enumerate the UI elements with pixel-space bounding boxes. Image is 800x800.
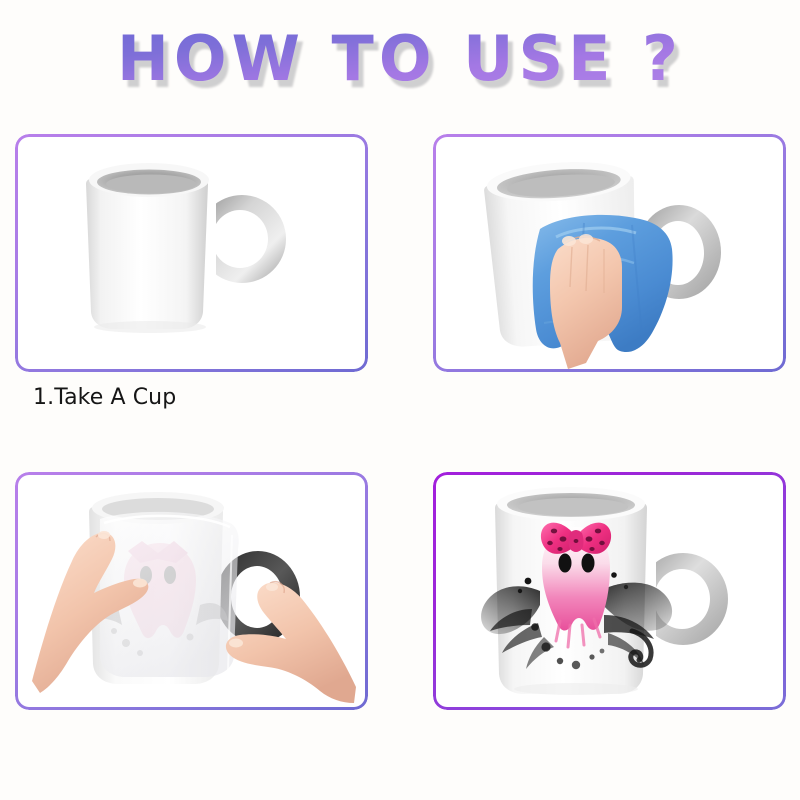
step-3-image-frame <box>15 472 368 710</box>
step-3-stage <box>18 475 365 707</box>
step-1-caption: 1.Take A Cup <box>33 382 413 413</box>
mug-rim <box>89 163 209 197</box>
step-card-1: 1.Take A Cup <box>15 134 368 372</box>
step-card-2: 2.Wipe The Surface If The Cup Clean <box>433 134 786 372</box>
plain-white-mug-illustration <box>18 137 365 369</box>
peel-film-illustration <box>18 475 365 707</box>
mug-handle <box>198 195 286 283</box>
hand <box>550 234 622 369</box>
step-1-stage <box>18 137 365 369</box>
how-to-use-infographic: HOW TO USE ? <box>0 0 800 800</box>
step-4-image-frame <box>433 472 786 710</box>
page-title: HOW TO USE ? <box>117 22 683 95</box>
step-1-image-frame <box>15 134 368 372</box>
ghost-eye-right <box>582 554 595 573</box>
step-4-stage <box>436 475 783 707</box>
step-card-4: 4.Finish Getting A New Cup <box>433 472 786 710</box>
step-2-stage <box>436 137 783 369</box>
ghost-eye-left <box>559 554 572 573</box>
step-card-3: 3.Affix Our Product And Peel Off The Fil… <box>15 472 368 710</box>
mug-body <box>86 179 208 329</box>
steps-grid: 1.Take A Cup <box>0 134 800 800</box>
page-title-container: HOW TO USE ? <box>0 22 800 95</box>
step-2-image-frame <box>433 134 786 372</box>
wipe-mug-illustration <box>436 137 783 369</box>
finished-mug-illustration <box>436 475 783 707</box>
